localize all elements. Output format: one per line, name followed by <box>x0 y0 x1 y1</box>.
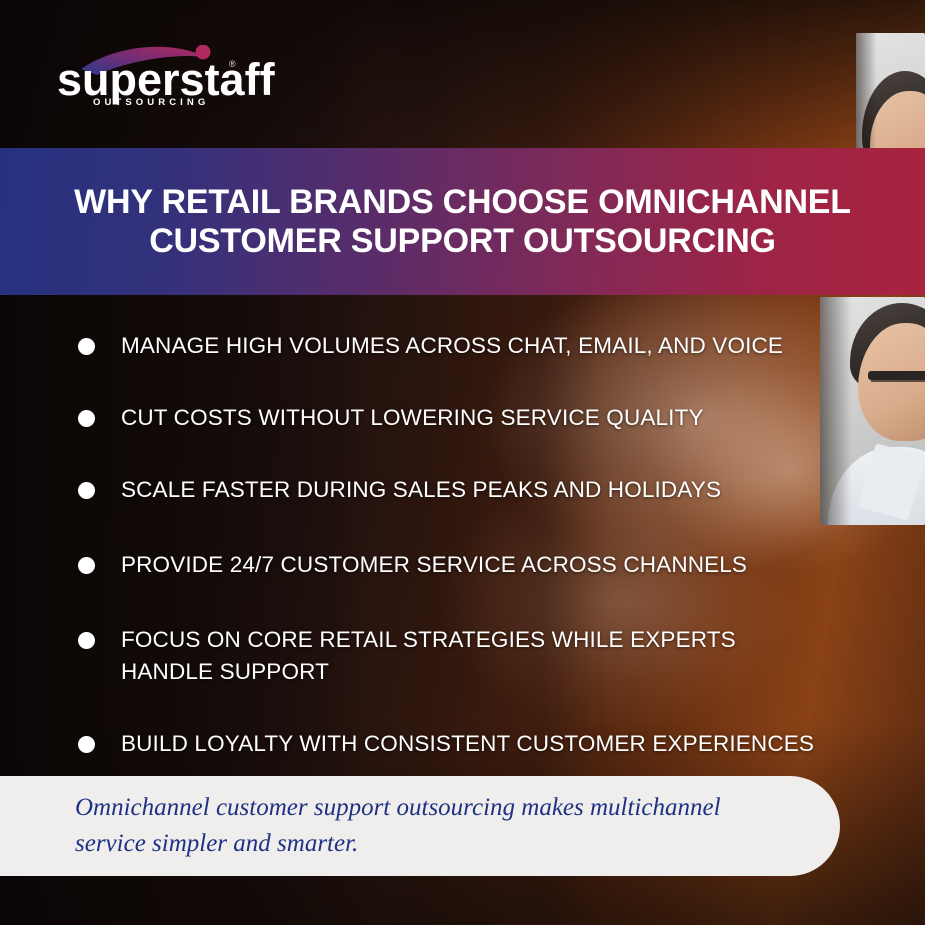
list-item-label: MANAGE HIGH VOLUMES ACROSS CHAT, EMAIL, … <box>121 330 783 362</box>
list-item-label: CUT COSTS WITHOUT LOWERING SERVICE QUALI… <box>121 402 704 434</box>
page-title: WHY RETAIL BRANDS CHOOSE OMNICHANNEL CUS… <box>0 183 925 259</box>
bullet-dot-icon <box>78 736 95 753</box>
superstaff-logo[interactable]: superstaff ® OUTSOURCING <box>57 45 277 107</box>
bullet-dot-icon <box>78 338 95 355</box>
list-item: FOCUS ON CORE RETAIL STRATEGIES WHILE EX… <box>78 624 848 688</box>
list-item: CUT COSTS WITHOUT LOWERING SERVICE QUALI… <box>78 402 848 434</box>
bullet-dot-icon <box>78 557 95 574</box>
logo-trademark: ® <box>229 59 236 69</box>
list-item-label: FOCUS ON CORE RETAIL STRATEGIES WHILE EX… <box>121 624 821 688</box>
bullet-dot-icon <box>78 482 95 499</box>
bullet-dot-icon <box>78 410 95 427</box>
list-item: MANAGE HIGH VOLUMES ACROSS CHAT, EMAIL, … <box>78 330 848 362</box>
list-item-label: SCALE FASTER DURING SALES PEAKS AND HOLI… <box>121 474 721 506</box>
caption-banner: Omnichannel customer support outsourcing… <box>0 776 840 876</box>
list-item: SCALE FASTER DURING SALES PEAKS AND HOLI… <box>78 474 848 506</box>
list-item-label: PROVIDE 24/7 CUSTOMER SERVICE ACROSS CHA… <box>121 549 747 581</box>
list-item: PROVIDE 24/7 CUSTOMER SERVICE ACROSS CHA… <box>78 549 848 581</box>
caption-text: Omnichannel customer support outsourcing… <box>75 790 744 863</box>
logo-tagline: OUTSOURCING <box>93 97 209 107</box>
poster-canvas: superstaff ® OUTSOURCING WHY RETAIL BRAN… <box>0 0 925 925</box>
bullet-dot-icon <box>78 632 95 649</box>
benefits-list: MANAGE HIGH VOLUMES ACROSS CHAT, EMAIL, … <box>78 330 848 760</box>
list-item: BUILD LOYALTY WITH CONSISTENT CUSTOMER E… <box>78 728 848 760</box>
list-item-label: BUILD LOYALTY WITH CONSISTENT CUSTOMER E… <box>121 728 814 760</box>
title-banner: WHY RETAIL BRANDS CHOOSE OMNICHANNEL CUS… <box>0 148 925 295</box>
